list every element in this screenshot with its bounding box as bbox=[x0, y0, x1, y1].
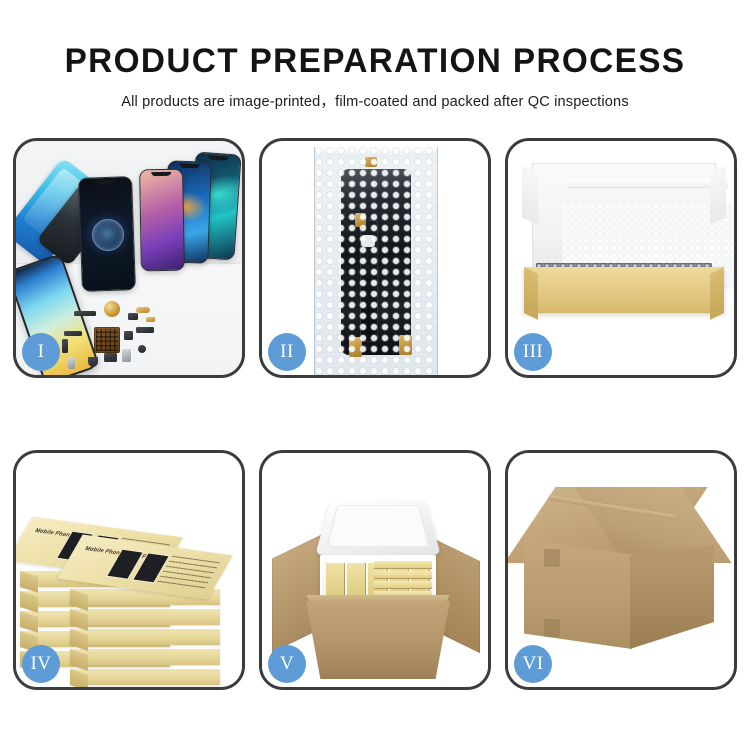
step-card-4: Mobile Phone Spare Parts Mobile Phone Sp… bbox=[13, 450, 245, 690]
flex-strip-part-icon bbox=[74, 311, 96, 316]
cable-part-icon bbox=[62, 339, 68, 353]
logic-board-part-icon bbox=[94, 327, 120, 353]
notch-icon bbox=[180, 164, 200, 169]
header: PRODUCT PREPARATION PROCESS All products… bbox=[0, 0, 750, 111]
antenna-flex-part-icon bbox=[64, 331, 82, 336]
gold-connector-part-icon bbox=[136, 307, 150, 313]
bubble-wrap-bag-icon bbox=[314, 147, 438, 375]
carton-front-face-icon bbox=[524, 539, 632, 649]
foam-box-lid-icon bbox=[315, 501, 441, 555]
kraft-box-side bbox=[70, 629, 220, 645]
lid-top-edge bbox=[568, 179, 728, 188]
mailer-lid-icon bbox=[532, 163, 716, 279]
taptic-part-icon bbox=[88, 357, 98, 367]
step-badge-6: VI bbox=[514, 645, 552, 683]
carton-tape-tab-icon bbox=[544, 549, 561, 568]
gold-contact-part-icon bbox=[146, 317, 155, 322]
carton-tape-tab-icon bbox=[544, 619, 561, 638]
step-card-6: VI bbox=[505, 450, 737, 690]
step-badge-1: I bbox=[22, 333, 60, 371]
ribbon-part-icon bbox=[136, 327, 154, 333]
step-card-3: III bbox=[505, 138, 737, 378]
phone-purple-icon bbox=[139, 169, 185, 272]
bubble-texture bbox=[315, 147, 437, 375]
shield-can-part-icon bbox=[104, 353, 117, 362]
step-card-5: V bbox=[259, 450, 491, 690]
step-card-1: I bbox=[13, 138, 245, 378]
step-badge-5: V bbox=[268, 645, 306, 683]
carton-body-icon bbox=[306, 601, 450, 679]
notch-icon bbox=[95, 180, 115, 185]
sim-tray-part-icon bbox=[68, 357, 75, 369]
kraft-box-side bbox=[70, 609, 220, 625]
metal-bracket-part-icon bbox=[122, 349, 131, 362]
product-preparation-process-infographic: PRODUCT PREPARATION PROCESS All products… bbox=[0, 0, 750, 750]
kraft-box-side bbox=[70, 669, 220, 685]
page-title: PRODUCT PREPARATION PROCESS bbox=[8, 0, 743, 80]
kraft-mailer-base-icon bbox=[524, 267, 724, 313]
notch-icon bbox=[208, 155, 228, 160]
step-badge-3: III bbox=[514, 333, 552, 371]
small-bracket-part-icon bbox=[128, 313, 138, 320]
page-subtitle: All products are image-printed，film-coat… bbox=[0, 80, 750, 111]
step-badge-2: II bbox=[268, 333, 306, 371]
process-steps-grid: I II bbox=[13, 138, 737, 698]
kraft-box-side bbox=[70, 649, 220, 665]
step-card-2: II bbox=[259, 138, 491, 378]
speaker-coil-part-icon bbox=[104, 301, 120, 317]
step-badge-4: IV bbox=[22, 645, 60, 683]
camera-module-part-icon bbox=[124, 331, 133, 340]
button-part-icon bbox=[138, 345, 146, 353]
phone-dark-screen-icon bbox=[78, 176, 136, 292]
notch-icon bbox=[151, 172, 171, 176]
